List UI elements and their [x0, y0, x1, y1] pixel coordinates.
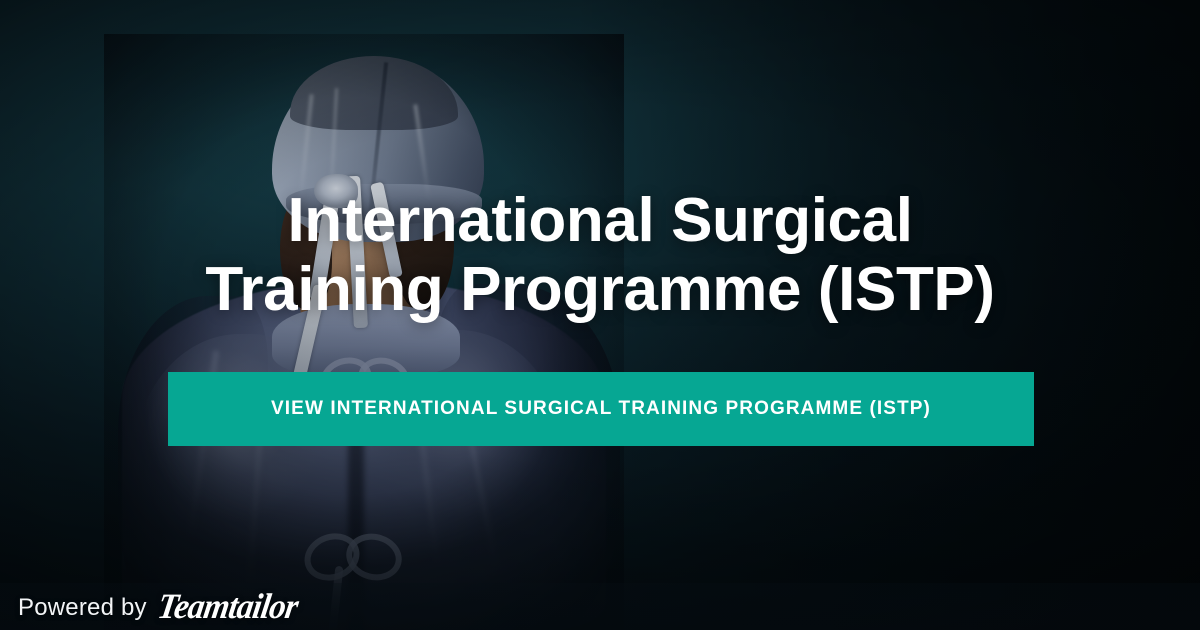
teamtailor-logo[interactable]: Teamtailor [155, 590, 300, 626]
page-title: International Surgical Training Programm… [170, 186, 1030, 325]
view-job-button[interactable]: View International Surgical Training Pro… [168, 372, 1034, 446]
job-share-card: International Surgical Training Programm… [0, 0, 1200, 630]
view-job-button-label: View International Surgical Training Pro… [271, 398, 931, 420]
powered-by-label: Powered by [18, 596, 147, 620]
card-content: International Surgical Training Programm… [0, 0, 1200, 630]
powered-by-footer: Powered by Teamtailor [18, 591, 297, 624]
